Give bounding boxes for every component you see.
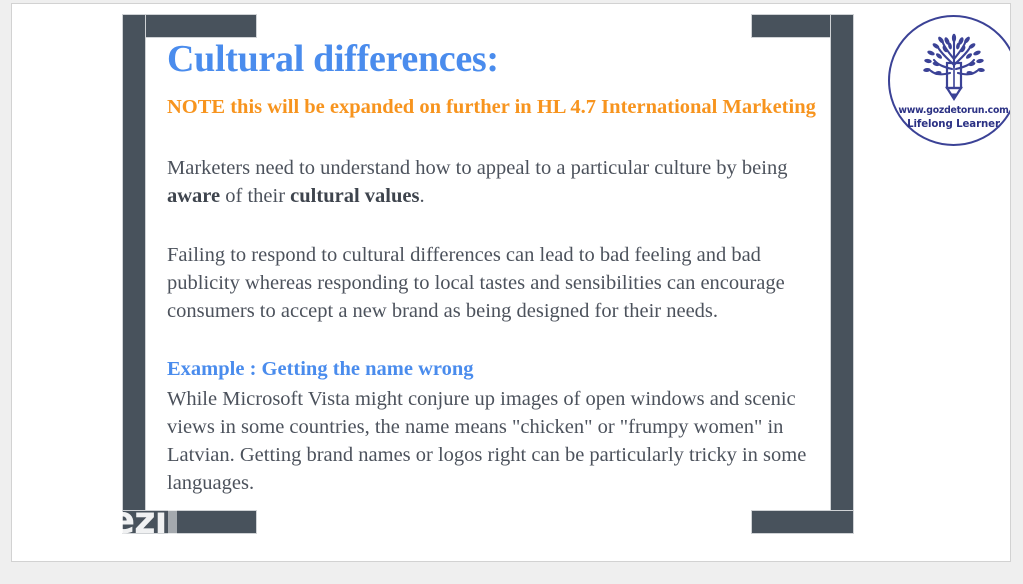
body-paragraph-2: Failing to respond to cultural differenc…	[167, 241, 822, 325]
logo-tagline: Lifelong Learner	[888, 119, 1011, 130]
frame-bracket-top-left-vertical	[122, 14, 146, 534]
brand-logo: www.gozdetorun.com Lifelong Learner	[888, 15, 1011, 146]
paragraph-1-text-part-2: of their	[220, 185, 290, 207]
example-heading: Example : Getting the name wrong	[167, 356, 822, 383]
note-callout: NOTE this will be expanded on further in…	[167, 94, 822, 121]
paragraph-1-text-part-1: Marketers need to understand how to appe…	[167, 157, 787, 179]
prezi-watermark-tick-icon	[168, 507, 177, 537]
pencil-tree-icon	[914, 29, 994, 105]
prezi-watermark-text: ezi	[110, 499, 166, 542]
screenshot-stage: ezi Cultural differences: NOTE this will…	[0, 0, 1023, 584]
paragraph-1-bold-cultural-values: cultural values	[290, 185, 419, 207]
logo-website-url: www.gozdetorun.com	[888, 105, 1011, 116]
presentation-slide: ezi Cultural differences: NOTE this will…	[11, 3, 1011, 562]
body-paragraph-1: Marketers need to understand how to appe…	[167, 154, 822, 210]
frame-bracket-bottom-right-horizontal	[751, 510, 854, 534]
slide-content: Cultural differences: NOTE this will be …	[167, 40, 822, 497]
paragraph-1-text-part-3: .	[419, 185, 424, 207]
page-title: Cultural differences:	[167, 40, 822, 80]
example-paragraph: While Microsoft Vista might conjure up i…	[167, 385, 822, 497]
frame-bracket-top-right-vertical	[830, 14, 854, 534]
prezi-watermark: ezi	[110, 502, 177, 539]
paragraph-1-bold-aware: aware	[167, 185, 220, 207]
